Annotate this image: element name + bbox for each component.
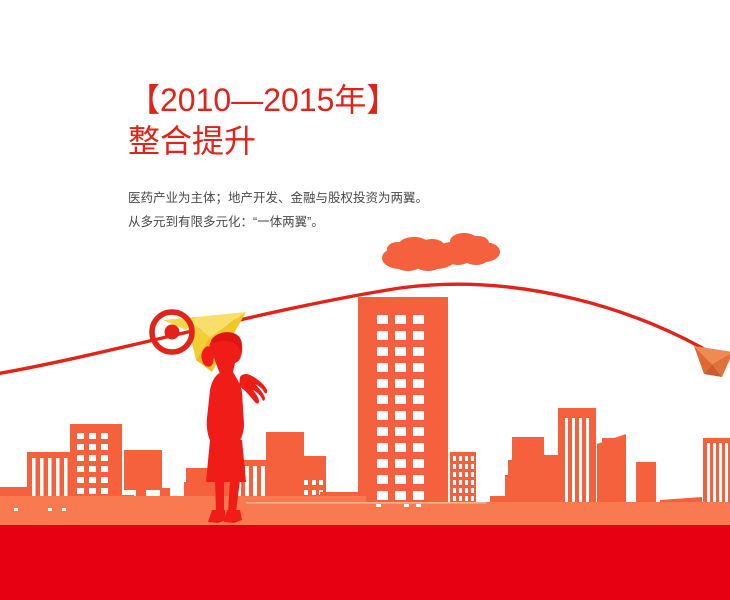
body-text-line-2: 从多元到有限多元化：“一体两翼”。 — [128, 210, 428, 234]
cloud-right — [436, 233, 500, 265]
body-text-line-1: 医药产业为主体；地产开发、金融与股权投资为两翼。 — [128, 186, 428, 210]
road-line — [246, 502, 486, 504]
body-text: 医药产业为主体；地产开发、金融与股权投资为两翼。 从多元到有限多元化：“一体两翼… — [128, 186, 428, 234]
ground-plate-left — [0, 496, 366, 525]
bottom-red-band — [0, 525, 730, 600]
orange-paper-plane — [694, 346, 730, 377]
page-title-line-2: 整合提升 — [128, 122, 428, 160]
page-title-line-1: 【2010—2015年】 — [128, 82, 428, 118]
skyline-buildings — [0, 297, 730, 525]
text-block: 【2010—2015年】 整合提升 医药产业为主体；地产开发、金融与股权投资为两… — [128, 82, 428, 234]
cloud-cluster — [382, 233, 500, 271]
slide-canvas: 【2010—2015年】 整合提升 医药产业为主体；地产开发、金融与股权投资为两… — [0, 0, 730, 600]
building — [124, 450, 162, 490]
